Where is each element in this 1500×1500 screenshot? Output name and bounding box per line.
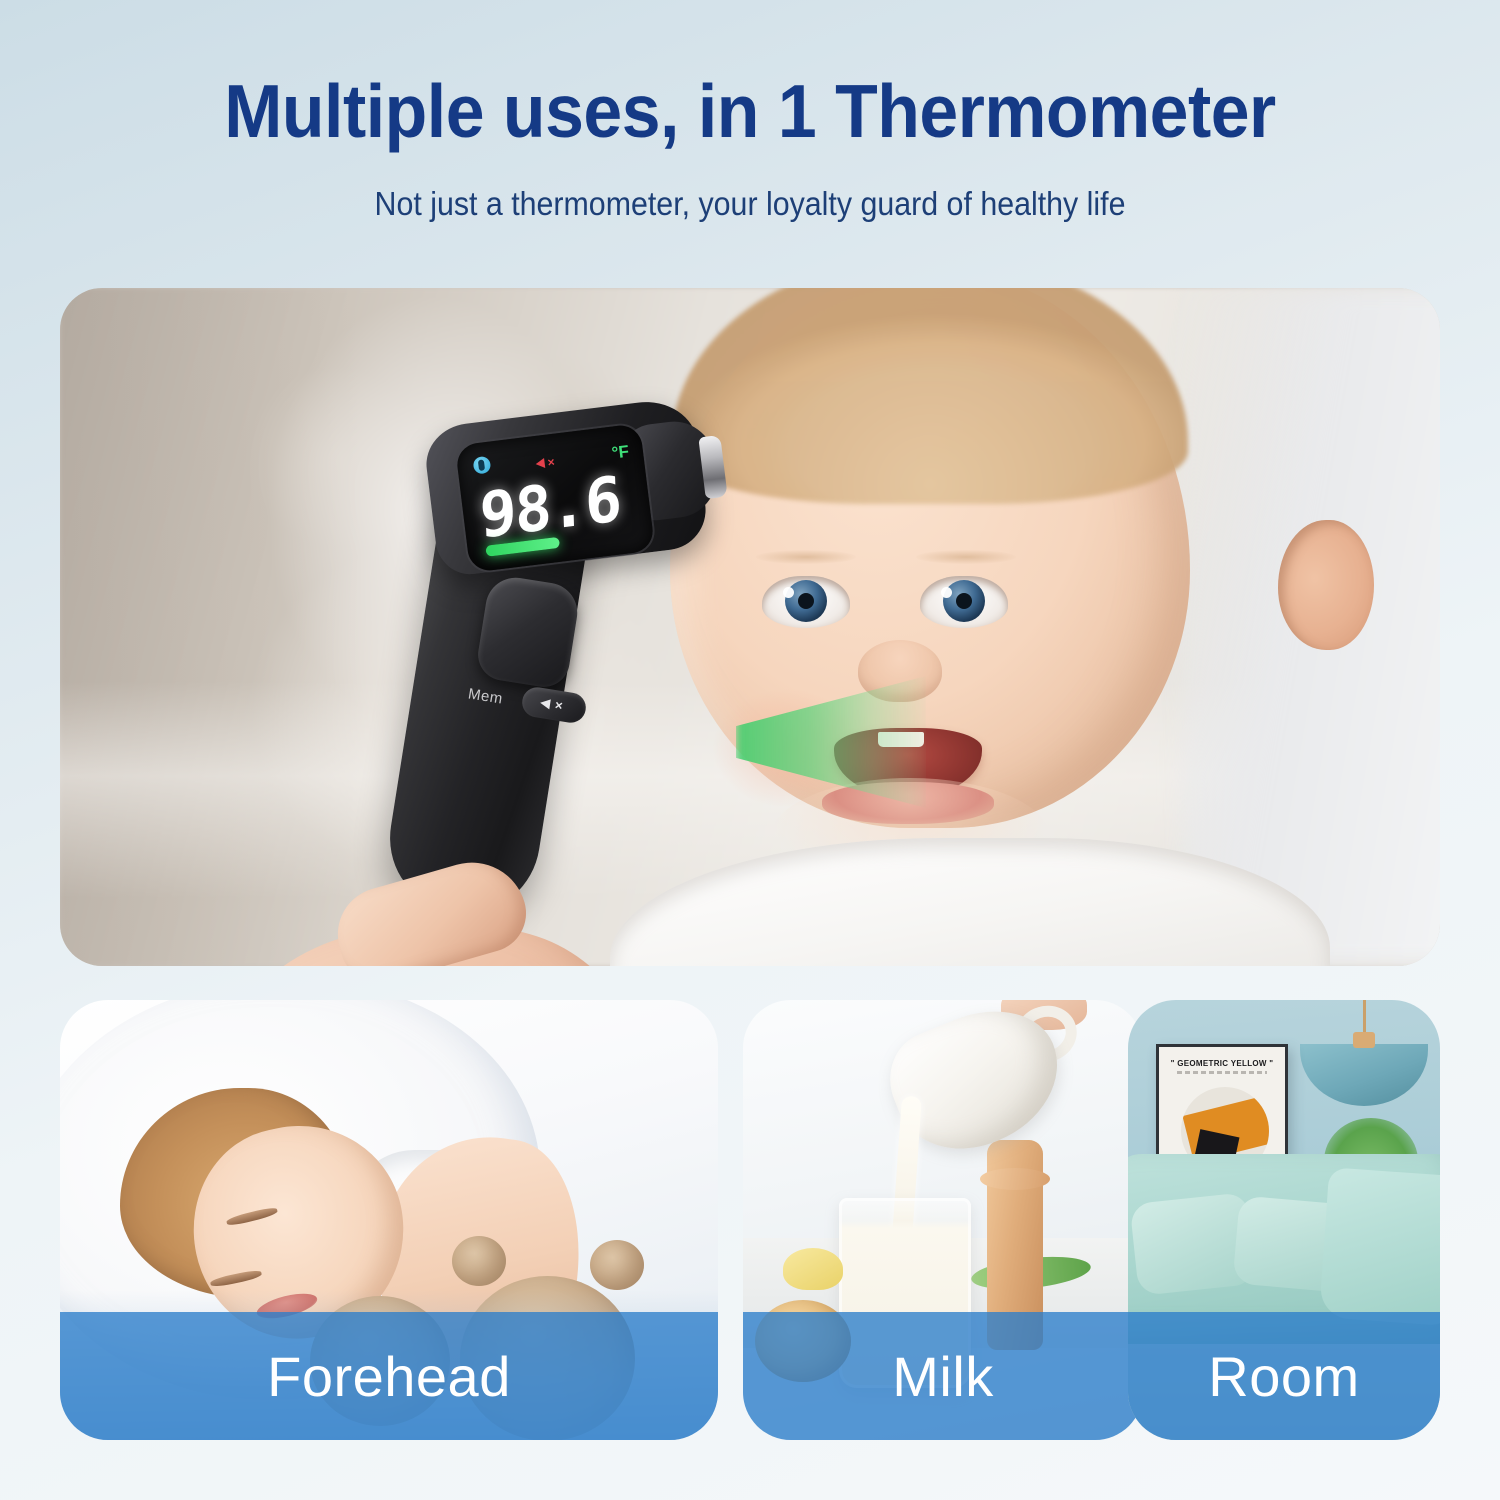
teddy-ear-left bbox=[452, 1236, 506, 1286]
fahrenheit-icon: °F bbox=[611, 443, 630, 462]
holding-hand bbox=[210, 848, 730, 966]
mute-cross-shape: × bbox=[547, 456, 555, 469]
thermometer-display: × °F 98.6 bbox=[455, 423, 655, 573]
header-section: Multiple uses, in 1 Thermometer Not just… bbox=[0, 0, 1500, 223]
baby-ear bbox=[1278, 520, 1374, 650]
card-room-caption-text: Room bbox=[1208, 1344, 1359, 1409]
card-milk-caption-text: Milk bbox=[892, 1344, 994, 1409]
usage-cards-row: Forehead Milk " GEOMETRIC YELLO bbox=[60, 1000, 1440, 1440]
page-title: Multiple uses, in 1 Thermometer bbox=[53, 72, 1448, 151]
body-mode-icon bbox=[472, 456, 491, 475]
card-forehead-caption-text: Forehead bbox=[267, 1344, 511, 1409]
throw-blanket bbox=[1319, 1167, 1440, 1326]
page-subtitle: Not just a thermometer, your loyalty gua… bbox=[60, 185, 1440, 223]
teddy-ear-right bbox=[590, 1240, 644, 1290]
card-room-caption: Room bbox=[1128, 1312, 1440, 1440]
card-forehead[interactable]: Forehead bbox=[60, 1000, 718, 1440]
measure-trigger-button[interactable] bbox=[474, 573, 581, 690]
poster-title: " GEOMETRIC YELLOW " bbox=[1159, 1059, 1285, 1068]
card-milk-caption: Milk bbox=[743, 1312, 1143, 1440]
mute-button-speaker-shape bbox=[539, 698, 550, 709]
mute-icon: × bbox=[535, 454, 557, 471]
hero-product-photo: × °F 98.6 Mem × bbox=[60, 288, 1440, 966]
mute-button-cross-shape: × bbox=[554, 697, 564, 713]
yellow-tulip bbox=[783, 1248, 843, 1290]
baby-iris-right bbox=[943, 580, 985, 622]
card-room[interactable]: " GEOMETRIC YELLOW " Room bbox=[1128, 1000, 1440, 1440]
card-forehead-caption: Forehead bbox=[60, 1312, 718, 1440]
card-milk[interactable]: Milk bbox=[743, 1000, 1143, 1440]
baby-eye-right bbox=[920, 576, 1008, 628]
poster-subtitle-lines bbox=[1177, 1071, 1267, 1074]
baby-eyebrow-right bbox=[916, 550, 1016, 564]
mute-speaker-shape bbox=[535, 458, 545, 469]
